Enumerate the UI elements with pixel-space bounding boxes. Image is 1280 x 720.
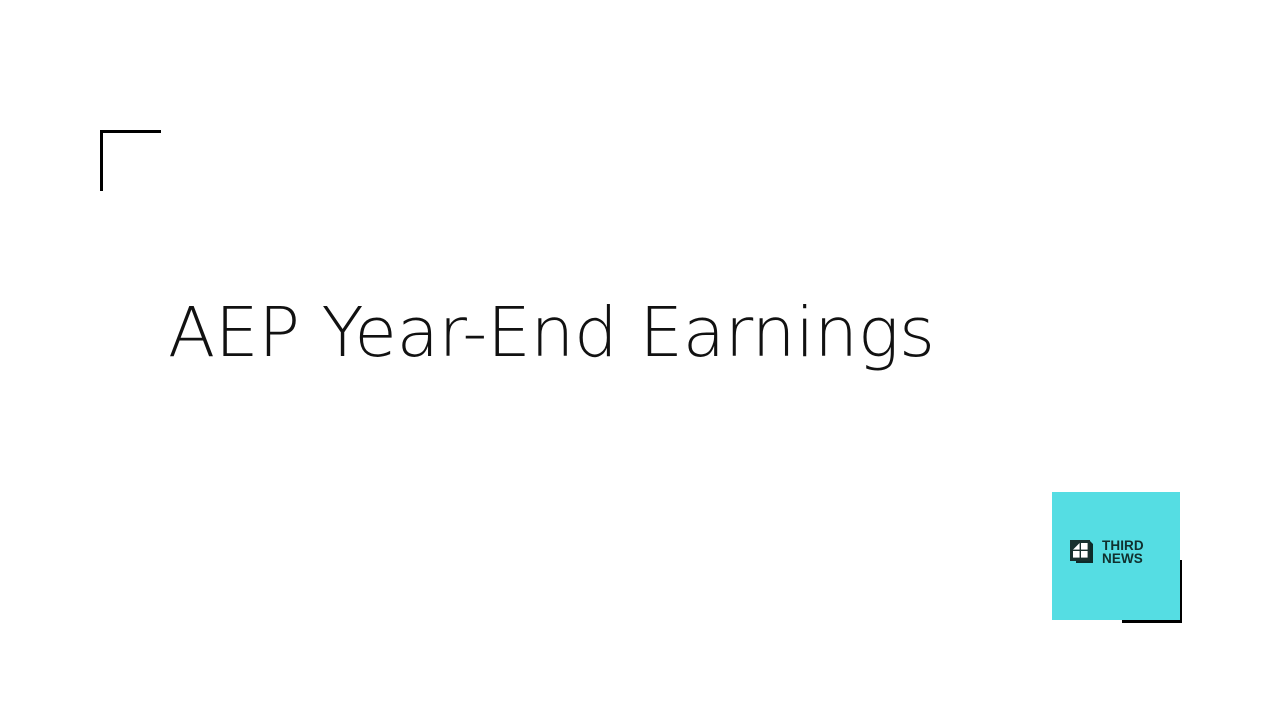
brand-logo: THIRD NEWS — [1052, 492, 1180, 620]
logo-wordmark-line-2: NEWS — [1102, 552, 1144, 565]
newspaper-grid-icon — [1068, 538, 1096, 566]
presentation-slide: AEP Year-End Earnings — [0, 0, 1280, 720]
title-block: AEP Year-End Earnings — [168, 296, 1108, 371]
logo-wordmark: THIRD NEWS — [1102, 539, 1144, 565]
corner-bracket-top-left-icon — [100, 130, 161, 191]
logo-lockup-content: THIRD NEWS — [1068, 538, 1144, 566]
page-title: AEP Year-End Earnings — [168, 296, 1108, 371]
